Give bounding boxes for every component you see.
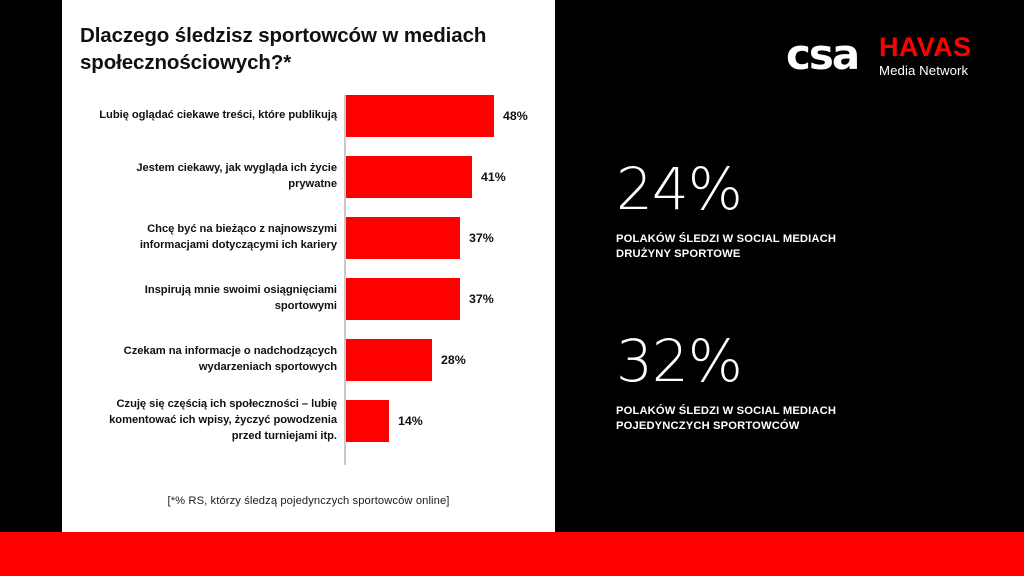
bar-category-label: Lubię oglądać ciekawe treści, które publ…: [87, 108, 337, 124]
bar-container: 28%: [346, 339, 466, 381]
bar-category-label: Czekam na informacje o nadchodzących wyd…: [87, 344, 337, 376]
bar-fill: [346, 278, 460, 320]
bar-category-label: Jestem ciekawy, jak wygląda ich życie pr…: [87, 161, 337, 193]
bar-row: Czekam na informacje o nadchodzących wyd…: [62, 339, 555, 381]
slide-root: Dlaczego śledzisz sportowców w mediach s…: [0, 0, 1024, 576]
stat-block-teams: 24% POLAKÓW ŚLEDZI W SOCIAL MEDIACH DRUŻ…: [616, 160, 956, 261]
bar-fill: [346, 339, 432, 381]
logo-block: csa HAVAS Media Network: [786, 30, 991, 92]
bar-fill: [346, 95, 494, 137]
csa-logo: csa: [786, 34, 858, 76]
bar-value-label: 48%: [503, 109, 528, 123]
bar-value-label: 14%: [398, 414, 423, 428]
bar-container: 37%: [346, 278, 494, 320]
bar-row: Lubię oglądać ciekawe treści, które publ…: [62, 95, 555, 137]
bar-container: 14%: [346, 400, 423, 442]
chart-footnote: [*% RS, którzy śledzą pojedynczych sport…: [62, 495, 555, 507]
bar-value-label: 41%: [481, 170, 506, 184]
bar-row: Czuję się częścią ich społeczności – lub…: [62, 400, 555, 442]
bar-row: Jestem ciekawy, jak wygląda ich życie pr…: [62, 156, 555, 198]
bar-container: 48%: [346, 95, 528, 137]
havas-wordmark: HAVAS: [879, 34, 991, 61]
stat-number: 24%: [616, 160, 956, 218]
stat-block-athletes: 32% POLAKÓW ŚLEDZI W SOCIAL MEDIACH POJE…: [616, 332, 956, 433]
bar-fill: [346, 217, 460, 259]
bottom-accent-band: [0, 532, 1024, 576]
bar-chart: Lubię oglądać ciekawe treści, które publ…: [62, 95, 555, 470]
bar-row: Inspirują mnie swoimi osiągnięciami spor…: [62, 278, 555, 320]
bar-category-label: Czuję się częścią ich społeczności – lub…: [87, 397, 337, 445]
chart-panel: Dlaczego śledzisz sportowców w mediach s…: [62, 0, 555, 532]
bar-row: Chcę być na bieżąco z najnowszymi inform…: [62, 217, 555, 259]
bar-category-label: Chcę być na bieżąco z najnowszymi inform…: [87, 222, 337, 254]
bar-container: 37%: [346, 217, 494, 259]
bar-category-label: Inspirują mnie swoimi osiągnięciami spor…: [87, 283, 337, 315]
bar-fill: [346, 156, 472, 198]
stat-number: 32%: [616, 332, 956, 390]
bar-value-label: 28%: [441, 353, 466, 367]
bar-fill: [346, 400, 389, 442]
havas-subtitle: Media Network: [879, 64, 991, 77]
chart-title: Dlaczego śledzisz sportowców w mediach s…: [80, 22, 540, 77]
bar-value-label: 37%: [469, 231, 494, 245]
bar-container: 41%: [346, 156, 506, 198]
stat-caption: POLAKÓW ŚLEDZI W SOCIAL MEDIACH POJEDYNC…: [616, 404, 956, 433]
bar-value-label: 37%: [469, 292, 494, 306]
stat-caption: POLAKÓW ŚLEDZI W SOCIAL MEDIACH DRUŻYNY …: [616, 232, 956, 261]
havas-logo: HAVAS Media Network: [879, 34, 991, 77]
